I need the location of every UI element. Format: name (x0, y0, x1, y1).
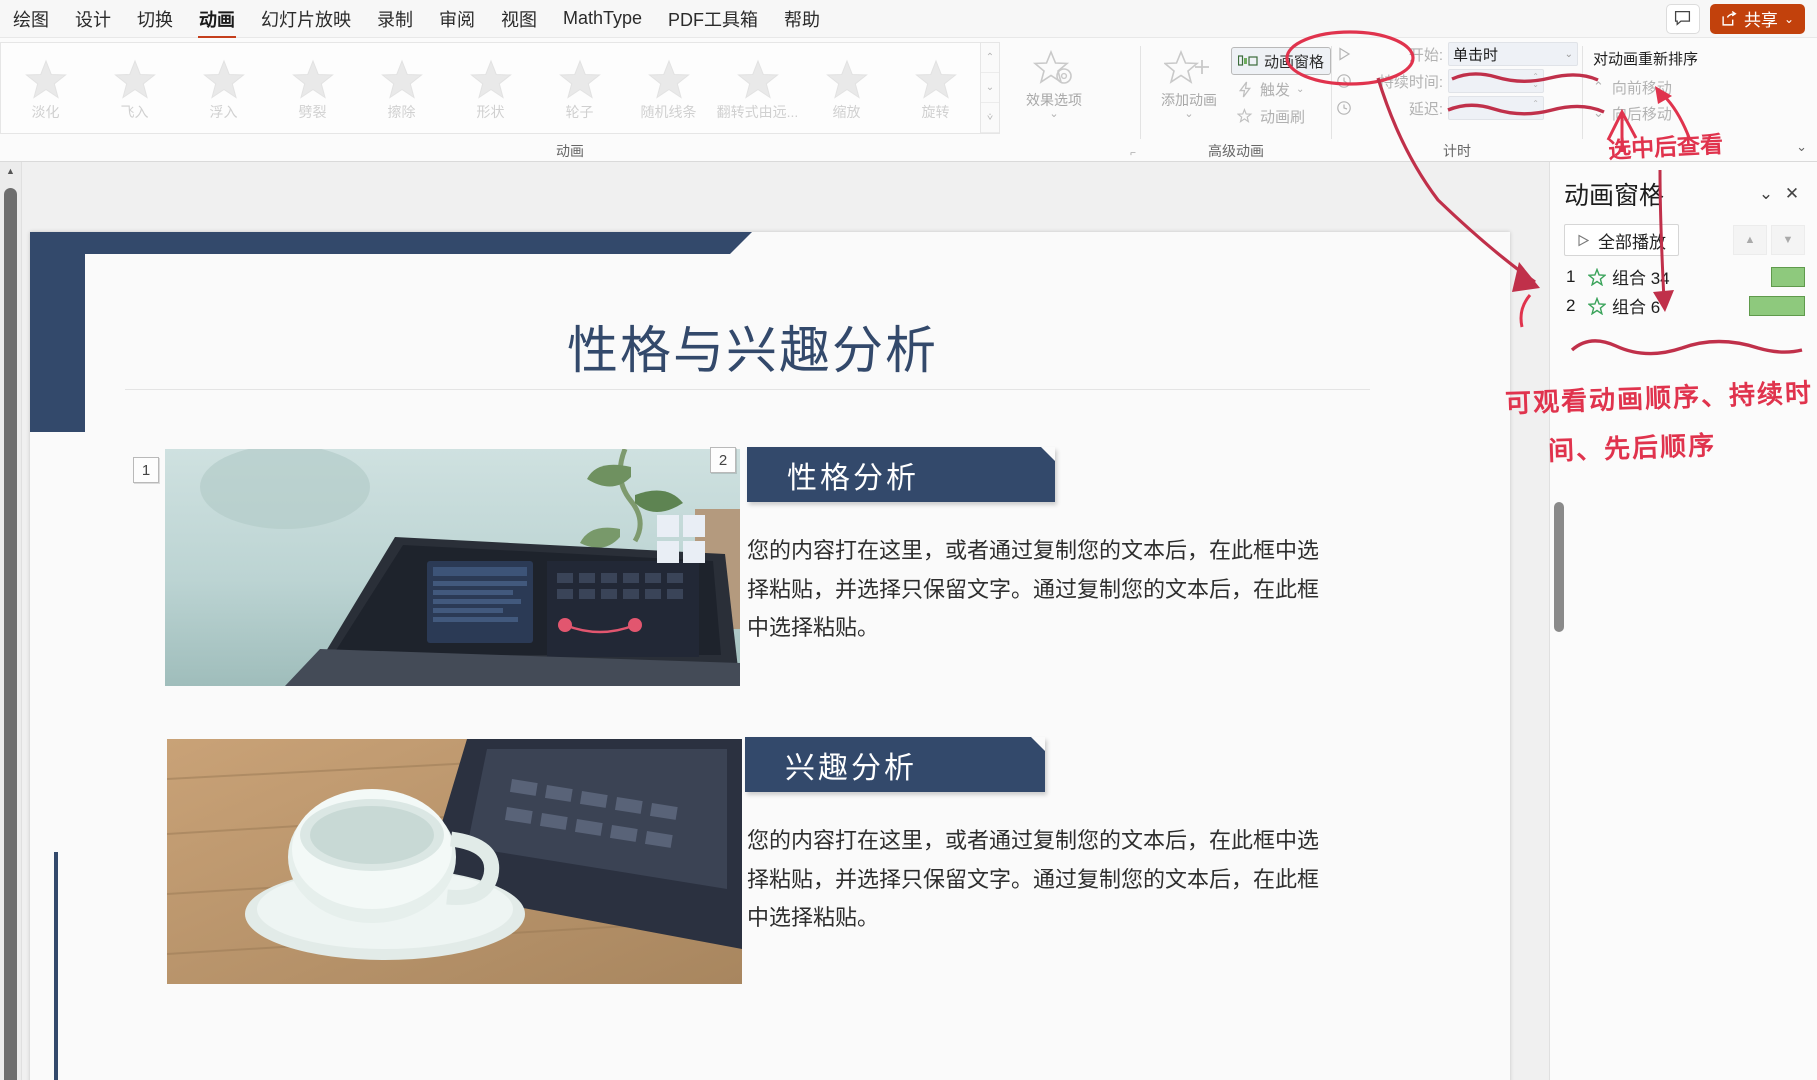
clock-icon (1336, 73, 1352, 89)
pane-reorder-arrows: ▲ ▼ (1733, 225, 1805, 255)
spinner-arrows[interactable]: ⌃⌄ (1532, 100, 1539, 116)
animation-effect-label: 随机线条 (641, 102, 697, 122)
play-all-button[interactable]: 全部播放 (1564, 224, 1679, 256)
ribbon-tab-bar: 绘图 设计 切换 动画 幻灯片放映 录制 审阅 视图 MathType PDF工… (0, 0, 1817, 38)
comment-icon (1674, 10, 1691, 27)
gallery-scroll-down-button[interactable]: ⌄ (981, 73, 999, 103)
share-label: 共享 (1744, 6, 1778, 31)
ribbon: 淡化飞入浮入劈裂擦除形状轮子随机线条翻转式由远...缩放旋转 ⌃ ⌄ ⩒ 效果选… (0, 38, 1817, 162)
slide-content: 性格与兴趣分析 1 (85, 254, 1510, 1080)
animation-marker-1[interactable]: 1 (133, 457, 159, 483)
animation-pane-header: 动画窗格 ⌄ ✕ (1550, 162, 1817, 216)
section-banner-1[interactable]: 性格分析 (747, 447, 1055, 502)
star-wipe-icon (380, 58, 424, 100)
start-value: 单击时 (1453, 44, 1565, 65)
chevron-down-icon: ⌄ (1049, 110, 1058, 118)
animation-item-name: 组合 6 (1612, 293, 1743, 318)
animation-marker-2[interactable]: 2 (710, 447, 736, 473)
title-divider (125, 389, 1370, 390)
animation-effect-8[interactable]: 随机线条 (624, 43, 713, 133)
trigger-label: 触发 (1260, 79, 1290, 100)
scrollbar-thumb[interactable] (4, 188, 17, 1080)
star-flip-icon (736, 58, 780, 100)
star-gear-icon (1031, 48, 1077, 90)
slide-vertical-scrollbar[interactable]: ▲ (0, 162, 22, 1080)
chevron-down-icon: ⌄ (1593, 105, 1604, 121)
animation-effect-6[interactable]: 形状 (446, 43, 535, 133)
banner-notch (1041, 447, 1055, 461)
animation-timeline-bar[interactable] (1749, 296, 1805, 316)
star-icon (24, 58, 68, 100)
animation-pane-icon (1238, 53, 1258, 69)
animation-timeline-bar[interactable] (1771, 267, 1805, 287)
move-later-button[interactable]: ⌄ 向后移动 (1593, 100, 1698, 126)
star-split-icon (291, 58, 335, 100)
green-star-icon (1588, 268, 1606, 286)
animation-effect-9[interactable]: 翻转式由远... (713, 43, 802, 133)
image-laptop-calendar-graphic (165, 449, 740, 686)
animation-effect-label: 轮子 (566, 102, 594, 122)
section-banner-1-label: 性格分析 (787, 453, 919, 497)
reorder-heading: 对动画重新排序 (1593, 48, 1698, 69)
animation-gallery-wrap: 淡化飞入浮入劈裂擦除形状轮子随机线条翻转式由远...缩放旋转 ⌃ ⌄ ⩒ (0, 42, 1000, 134)
star-fly-in-icon (113, 58, 157, 100)
scroll-up-arrow-icon[interactable]: ▲ (0, 166, 21, 176)
section-banner-2-label: 兴趣分析 (785, 743, 917, 787)
animation-dialog-launcher[interactable]: ⌐ (1130, 148, 1136, 159)
play-icon (1336, 46, 1352, 62)
section-banner-2[interactable]: 兴趣分析 (745, 737, 1045, 792)
chevron-down-icon: ⌄ (1184, 110, 1193, 118)
tab-draw[interactable]: 绘图 (0, 0, 62, 38)
animation-effect-4[interactable]: 劈裂 (268, 43, 357, 133)
section-body-1[interactable]: 您的内容打在这里，或者通过复制您的文本后，在此框中选择粘贴，并选择只保留文字。通… (747, 532, 1327, 648)
animation-list[interactable]: 1组合 342组合 6 (1550, 262, 1817, 320)
chevron-down-icon: ⌄ (1296, 84, 1304, 95)
animation-painter-label: 动画刷 (1260, 106, 1305, 127)
trigger-button[interactable]: 触发 ⌄ (1231, 76, 1331, 102)
animation-pane-label: 动画窗格 (1264, 51, 1324, 72)
tab-design[interactable]: 设计 (62, 0, 124, 38)
reorder-block: 对动画重新排序 ⌃ 向前移动 ⌄ 向后移动 (1583, 42, 1706, 126)
share-button[interactable]: 共享 ⌄ (1710, 4, 1805, 34)
animation-pane-button[interactable]: 动画窗格 (1231, 47, 1331, 75)
ribbon-group-advanced-animation: 添加动画 ⌄ 动画窗格 触发 ⌄ (1141, 38, 1331, 161)
animation-effect-label: 擦除 (388, 102, 416, 122)
tab-slideshow[interactable]: 幻灯片放映 (248, 0, 364, 38)
image-coffee-laptop[interactable] (167, 739, 742, 984)
effect-options-button[interactable]: 效果选项 ⌄ (1012, 42, 1096, 118)
slide[interactable]: 性格与兴趣分析 1 (30, 232, 1510, 1080)
star-random-bars-icon (647, 58, 691, 100)
chevron-down-icon: ⌄ (1565, 49, 1573, 60)
animation-effect-11[interactable]: 旋转 (891, 43, 980, 133)
star-shape-icon (469, 58, 513, 100)
green-star-icon (1588, 297, 1606, 315)
animation-effect-1[interactable]: 淡化 (1, 43, 90, 133)
animation-effect-label: 浮入 (210, 102, 238, 122)
star-zoom-icon (825, 58, 869, 100)
animation-effect-label: 形状 (477, 102, 505, 122)
add-animation-label: 添加动画 (1161, 92, 1217, 108)
tab-pdf-toolbox[interactable]: PDF工具箱 (655, 0, 771, 38)
timing-rows: 开始: 单击时 ⌄ 持续时间: ⌃⌄ (1332, 42, 1578, 120)
play-all-label: 全部播放 (1598, 228, 1666, 253)
star-spin-icon (914, 58, 958, 100)
timing-row-start: 开始: 单击时 ⌄ (1336, 42, 1578, 66)
slide-decor-top-notch (730, 232, 752, 254)
lightning-icon (1237, 81, 1254, 98)
animation-list-item[interactable]: 2组合 6 (1550, 291, 1817, 320)
duration-label: 持续时间: (1357, 71, 1443, 92)
chevron-down-icon[interactable]: ⌄ (1532, 81, 1539, 89)
animation-pane-toolbar: 全部播放 ▲ ▼ (1550, 216, 1817, 262)
animation-effect-label: 淡化 (32, 102, 60, 122)
slide-decor-left (30, 232, 85, 432)
slide-decor-bottom-left (54, 852, 58, 1080)
ribbon-group-animation: 淡化飞入浮入劈裂擦除形状轮子随机线条翻转式由远...缩放旋转 ⌃ ⌄ ⩒ 效果选… (0, 38, 1140, 161)
work-area: ▲ 性格与兴趣分析 1 (0, 162, 1817, 1080)
section-body-2[interactable]: 您的内容打在这里，或者通过复制您的文本后，在此框中选择粘贴，并选择只保留文字。通… (747, 822, 1327, 938)
animation-effect-label: 缩放 (833, 102, 861, 122)
timing-row-duration: 持续时间: ⌃⌄ (1336, 69, 1578, 93)
delay-label: 延迟: (1357, 98, 1443, 119)
star-brush-icon (1237, 108, 1254, 125)
add-animation-button[interactable]: 添加动画 ⌄ (1147, 42, 1231, 118)
move-earlier-button[interactable]: ⌃ 向前移动 (1593, 74, 1698, 100)
move-later-label: 向后移动 (1612, 103, 1672, 124)
chevron-down-icon[interactable]: ⌄ (1532, 108, 1539, 116)
group-label-reorder (1583, 141, 1783, 161)
start-label: 开始: (1357, 44, 1443, 65)
animation-painter-button[interactable]: 动画刷 (1231, 103, 1331, 129)
share-icon (1721, 10, 1738, 27)
effect-options-label: 效果选项 (1026, 92, 1082, 108)
move-earlier-label: 向前移动 (1612, 77, 1672, 98)
animation-item-index: 2 (1566, 296, 1582, 316)
gallery-scroll-up-button[interactable]: ⌃ (981, 43, 999, 73)
timing-row-delay: 延迟: ⌃⌄ (1336, 96, 1578, 120)
slide-canvas[interactable]: 性格与兴趣分析 1 (22, 162, 1549, 1080)
animation-pane: 动画窗格 ⌄ ✕ 全部播放 ▲ ▼ 1组合 342组合 6 (1549, 162, 1817, 1080)
spinner-arrows[interactable]: ⌃⌄ (1532, 73, 1539, 89)
animation-effect-3[interactable]: 浮入 (179, 43, 268, 133)
pane-move-up-button[interactable]: ▲ (1733, 225, 1767, 255)
animation-effect-label: 飞入 (121, 102, 149, 122)
tab-record[interactable]: 录制 (364, 0, 426, 38)
slide-title[interactable]: 性格与兴趣分析 (85, 309, 1420, 383)
animation-effect-label: 旋转 (922, 102, 950, 122)
comment-button[interactable] (1666, 4, 1700, 34)
group-label-timing: 计时 (1332, 141, 1582, 161)
tab-transitions[interactable]: 切换 (124, 0, 186, 38)
clock-delay-icon (1336, 100, 1352, 116)
image-coffee-laptop-graphic (167, 739, 742, 984)
start-dropdown[interactable]: 单击时 ⌄ (1448, 42, 1578, 66)
star-float-in-icon (202, 58, 246, 100)
group-label-animation: 动画 (0, 141, 1140, 161)
animation-effect-7[interactable]: 轮子 (535, 43, 624, 133)
animation-effect-5[interactable]: 擦除 (357, 43, 446, 133)
animation-item-name: 组合 34 (1612, 264, 1765, 289)
tab-view[interactable]: 视图 (488, 0, 550, 38)
gallery-scroll-buttons[interactable]: ⌃ ⌄ ⩒ (980, 42, 1000, 134)
tab-review[interactable]: 审阅 (426, 0, 488, 38)
group-label-advanced: 高级动画 (1141, 141, 1331, 161)
titlebar-actions: 共享 ⌄ (1666, 4, 1817, 34)
ribbon-group-reorder: 对动画重新排序 ⌃ 向前移动 ⌄ 向后移动 (1583, 38, 1783, 161)
animation-effect-10[interactable]: 缩放 (802, 43, 891, 133)
play-triangle-icon (1577, 234, 1589, 247)
ribbon-collapse-button[interactable]: ⌄ (1796, 139, 1807, 155)
animation-list-item[interactable]: 1组合 34 (1550, 262, 1817, 291)
star-wheel-icon (558, 58, 602, 100)
animation-effect-label: 翻转式由远... (717, 102, 799, 122)
animation-item-index: 1 (1566, 267, 1582, 287)
chevron-down-icon: ⌄ (1784, 12, 1794, 26)
pane-collapse-button[interactable]: ⌄ (1753, 181, 1779, 207)
gallery-more-button[interactable]: ⩒ (981, 103, 999, 133)
animation-gallery[interactable]: 淡化飞入浮入劈裂擦除形状轮子随机线条翻转式由远...缩放旋转 (0, 42, 980, 134)
ribbon-group-timing: 开始: 单击时 ⌄ 持续时间: ⌃⌄ (1332, 38, 1582, 161)
pane-close-button[interactable]: ✕ (1779, 181, 1805, 207)
tab-animations[interactable]: 动画 (186, 0, 248, 38)
slide-decor-top (30, 232, 730, 254)
pane-scrollbar-thumb[interactable] (1554, 502, 1564, 632)
pane-move-down-button[interactable]: ▼ (1771, 225, 1805, 255)
duration-spinner[interactable]: ⌃⌄ (1448, 69, 1544, 93)
chevron-up-icon: ⌃ (1593, 79, 1604, 95)
animation-effect-2[interactable]: 飞入 (90, 43, 179, 133)
image-laptop-calendar[interactable] (165, 449, 740, 686)
banner-notch (1031, 737, 1045, 751)
star-plus-icon (1164, 48, 1214, 90)
delay-spinner[interactable]: ⌃⌄ (1448, 96, 1544, 120)
tab-help[interactable]: 帮助 (771, 0, 833, 38)
animation-pane-title: 动画窗格 (1564, 176, 1753, 212)
animation-effect-label: 劈裂 (299, 102, 327, 122)
tab-mathtype[interactable]: MathType (550, 2, 655, 35)
